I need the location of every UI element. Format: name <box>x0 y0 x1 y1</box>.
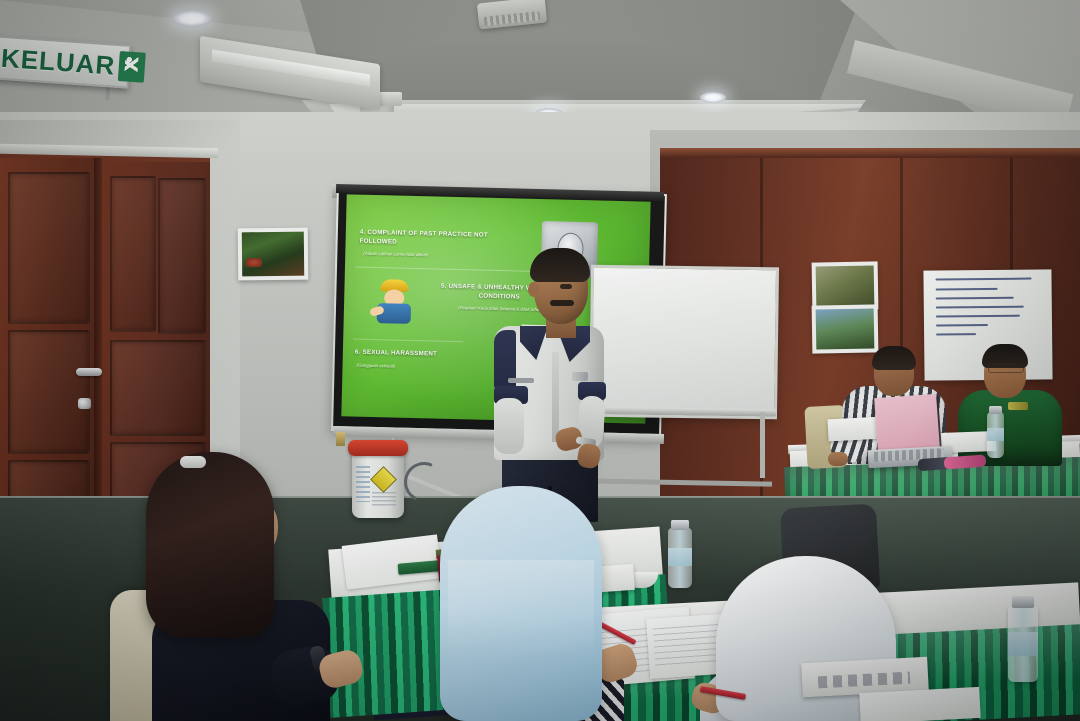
flipchart-note-line <box>936 324 988 327</box>
flipchart-note-line <box>936 333 976 335</box>
door-handle[interactable] <box>76 368 102 376</box>
name-card-tent <box>827 417 882 442</box>
presenter-moustache <box>550 300 574 306</box>
door-lock-icon[interactable] <box>78 398 91 409</box>
flipchart-note-line <box>936 278 1032 281</box>
flipchart-note-line <box>936 288 998 291</box>
presenter-eye <box>560 284 572 289</box>
laptop-screen[interactable] <box>874 394 940 452</box>
meeting-room-photo: KELUAR 4. COMPLAINT OF PAST PRACTICE NOT… <box>0 0 1080 721</box>
bottle-cap <box>671 520 689 530</box>
hijab-fold <box>448 560 594 720</box>
flipchart-note-line <box>936 297 1014 300</box>
presenter-arm <box>494 398 524 454</box>
pail-text-block <box>356 466 370 502</box>
door-mullion <box>94 158 102 536</box>
framed-photo-forest <box>238 228 309 281</box>
door-panel <box>110 176 156 332</box>
photo-image <box>242 232 304 277</box>
participant-green-logo <box>1008 402 1028 410</box>
exit-sign-label: KELUAR <box>0 45 116 79</box>
door-panel <box>158 178 206 334</box>
door-panel <box>8 172 90 324</box>
bottle-label <box>1008 632 1038 656</box>
screen-leg <box>336 432 345 446</box>
whiteboard <box>589 265 779 420</box>
flipchart-note-line <box>936 315 1020 318</box>
framed-photo-landscape-top <box>812 261 879 310</box>
participant-striped-hand <box>828 452 848 466</box>
hair-tie <box>180 456 206 468</box>
participant-striped-hair <box>872 346 916 370</box>
eyeglasses-icon <box>988 364 1024 373</box>
worksheet-paper <box>859 687 980 721</box>
bottle-label <box>668 548 692 566</box>
ceiling-downlight-icon <box>172 10 212 27</box>
presenter-badge <box>572 372 588 381</box>
exit-sign: KELUAR <box>0 35 131 88</box>
bottle-cap <box>989 406 1002 414</box>
pail-lid <box>348 440 408 456</box>
bottle-label <box>987 428 1004 441</box>
door-panel <box>110 340 206 436</box>
ceiling-downlight-icon <box>700 92 726 103</box>
photo-highlight <box>246 258 262 267</box>
framed-photo-landscape-bottom <box>812 304 879 353</box>
door-panel <box>8 330 90 454</box>
bottle-cap <box>1012 596 1034 608</box>
wood-panel-trim <box>660 148 1080 158</box>
presenter-pocket <box>508 378 534 383</box>
pail-text-block <box>372 492 396 508</box>
presenter-ear <box>528 282 539 297</box>
running-man-exit-icon <box>118 51 146 83</box>
whiteboard-stand-leg <box>760 412 765 478</box>
participant-dark-top-hair <box>146 452 274 638</box>
presenter-shirt-placket <box>552 352 559 442</box>
flipchart-note-line <box>936 306 1024 309</box>
photo-image <box>816 265 875 306</box>
photo-image <box>816 308 875 349</box>
